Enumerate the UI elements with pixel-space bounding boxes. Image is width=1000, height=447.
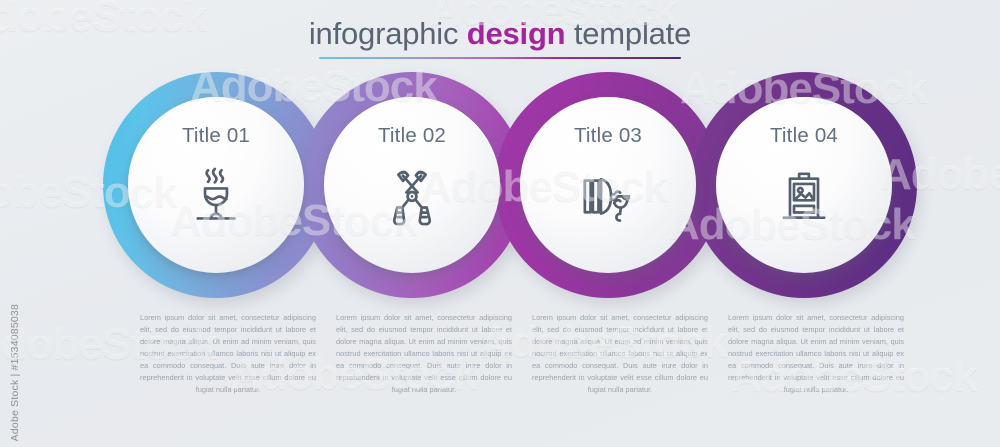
glass-dryer-icon <box>569 158 647 236</box>
step-disc-4[interactable]: Title 04 <box>716 97 892 273</box>
step-node-2[interactable]: Title 02 <box>299 72 525 298</box>
step-node-1[interactable]: Title 01 <box>103 72 329 298</box>
title-accent-word: design <box>467 16 566 51</box>
step-title-1: Title 01 <box>182 126 250 147</box>
pruning-shears-icon <box>373 158 451 236</box>
title-part-one: infographic <box>309 16 467 51</box>
hot-wine-glass-icon <box>177 158 255 236</box>
step-node-4[interactable]: Title 04 <box>691 72 917 298</box>
step-node-3[interactable]: Title 03 <box>495 72 721 298</box>
step-title-2: Title 02 <box>378 126 446 147</box>
step-disc-2[interactable]: Title 02 <box>324 97 500 273</box>
title-underline-rule <box>319 57 681 59</box>
step-caption-1: Lorem ipsum dolor sit amet, consectetur … <box>140 312 316 396</box>
labeled-canister-icon <box>765 158 843 236</box>
page-title: infographic design template <box>0 16 1000 59</box>
step-caption-3: Lorem ipsum dolor sit amet, consectetur … <box>532 312 708 396</box>
step-chain: Title 01 <box>0 72 1000 302</box>
step-caption-4: Lorem ipsum dolor sit amet, consectetur … <box>728 312 904 396</box>
step-title-4: Title 04 <box>770 126 838 147</box>
caption-row: Lorem ipsum dolor sit amet, consectetur … <box>0 312 1000 412</box>
step-title-3: Title 03 <box>574 126 642 147</box>
title-part-two: template <box>565 16 691 51</box>
infographic-canvas: infographic design template Title 01 <box>0 0 1000 447</box>
step-disc-1[interactable]: Title 01 <box>128 97 304 273</box>
step-disc-3[interactable]: Title 03 <box>520 97 696 273</box>
step-caption-2: Lorem ipsum dolor sit amet, consectetur … <box>336 312 512 396</box>
